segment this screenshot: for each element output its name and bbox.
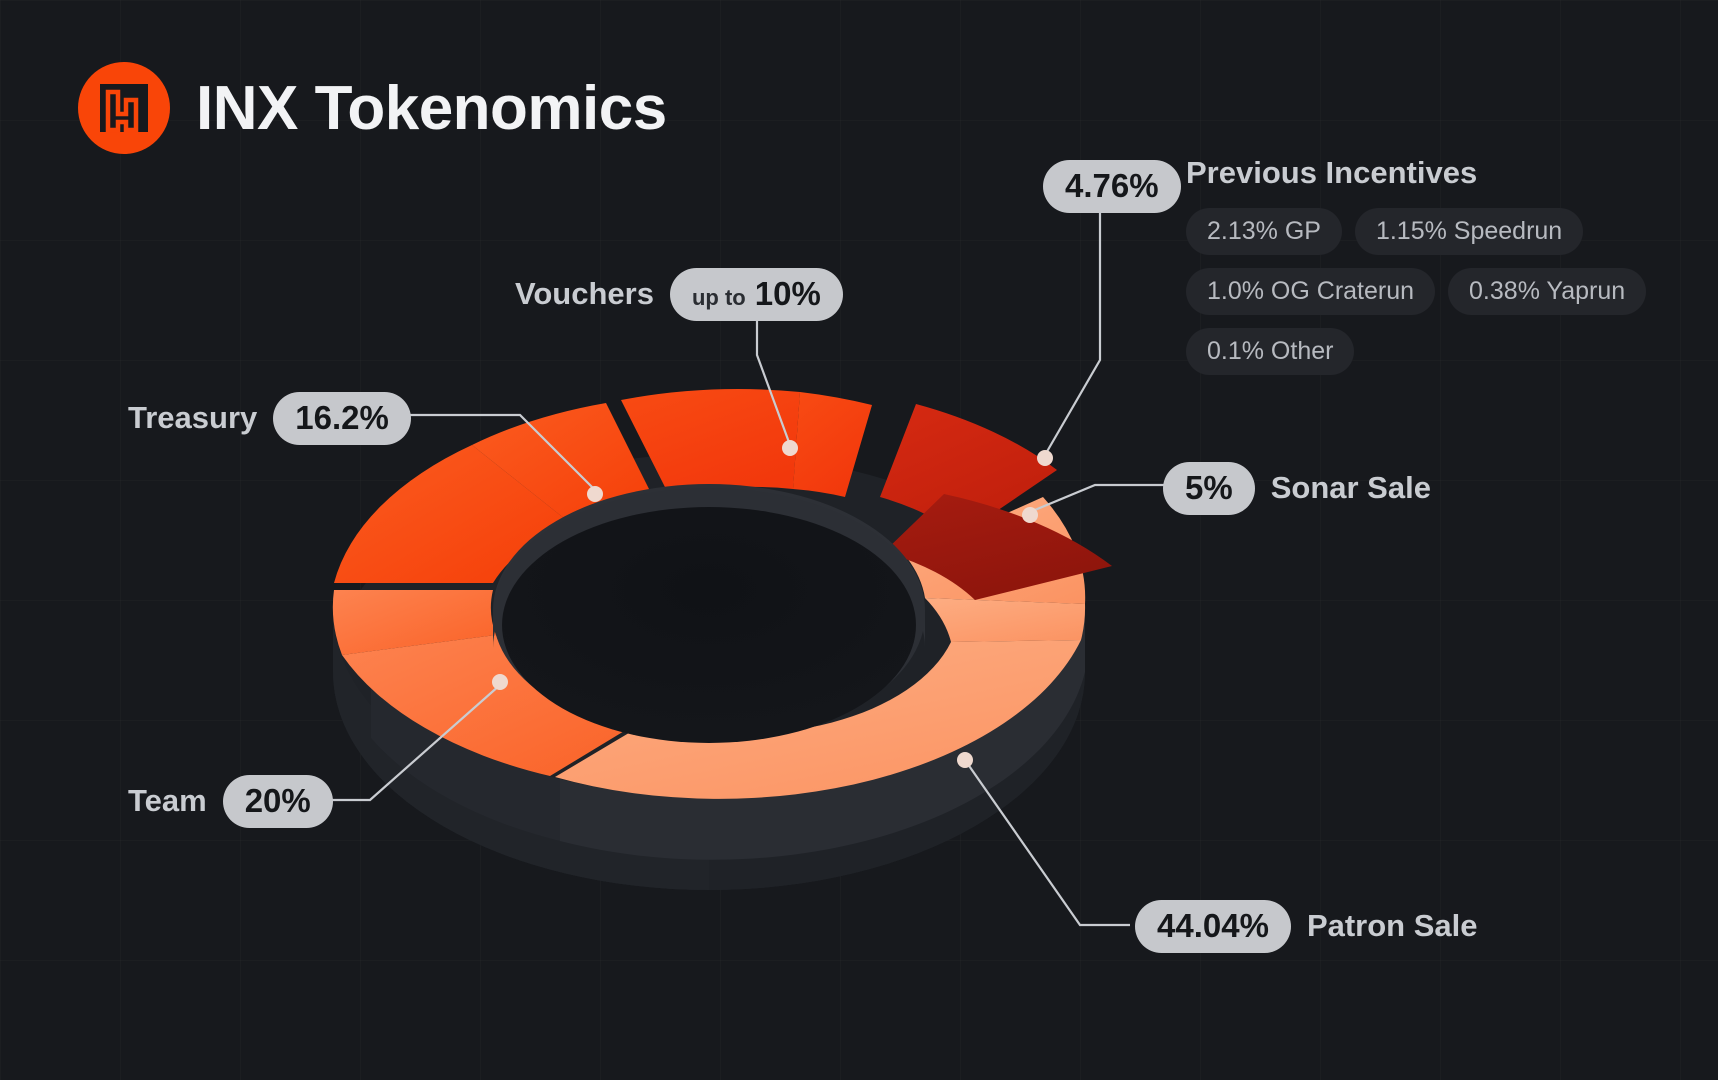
breakdown-tag-speedrun: 1.15% Speedrun [1355,208,1583,255]
breakdown-tag-gp: 2.13% GP [1186,208,1342,255]
callout-label-sonar-sale: Sonar Sale [1271,470,1431,506]
donut-hole [493,484,925,743]
previous-incentives-pct: 4.76% [1065,169,1159,204]
callout-value-sonar-sale: 5% [1163,462,1255,515]
treasury-pct: 16.2% [295,401,389,436]
callout-label-vouchers: Vouchers [515,276,654,312]
sonar-sale-pct: 5% [1185,471,1233,506]
callout-team: Team 20% [128,775,333,828]
callout-treasury: Treasury 16.2% [128,392,411,445]
previous-incentives-block: Previous Incentives 2.13% GP 1.15% Speed… [1186,155,1646,375]
callout-vouchers: Vouchers up to 10% [515,268,843,321]
callout-value-patron-sale: 44.04% [1135,900,1291,953]
breakdown-tag-og-craterun: 1.0% OG Craterun [1186,268,1435,315]
previous-incentives-row-2: 1.0% OG Craterun 0.38% Yaprun [1186,268,1646,315]
callout-previous-incentives: 4.76% [1043,160,1181,213]
callout-label-patron-sale: Patron Sale [1307,908,1478,944]
previous-incentives-row-3: 0.1% Other [1186,328,1354,375]
callout-value-previous-incentives: 4.76% [1043,160,1181,213]
patron-sale-pct: 44.04% [1157,909,1269,944]
vouchers-pct: 10% [755,277,821,312]
team-pct: 20% [245,784,311,819]
callout-label-team: Team [128,783,207,819]
callout-patron-sale: 44.04% Patron Sale [1135,900,1478,953]
previous-incentives-title: Previous Incentives [1186,155,1477,191]
callout-value-treasury: 16.2% [273,392,411,445]
tokenomics-infographic: INX Tokenomics [0,0,1718,1080]
previous-incentives-row-1: 2.13% GP 1.15% Speedrun [1186,208,1583,255]
callout-label-treasury: Treasury [128,400,257,436]
callout-value-team: 20% [223,775,333,828]
breakdown-tag-other: 0.1% Other [1186,328,1354,375]
callout-sonar-sale: 5% Sonar Sale [1163,462,1431,515]
breakdown-tag-yaprun: 0.38% Yaprun [1448,268,1646,315]
vouchers-prefix: up to [692,286,746,309]
callout-value-vouchers: up to 10% [670,268,843,321]
